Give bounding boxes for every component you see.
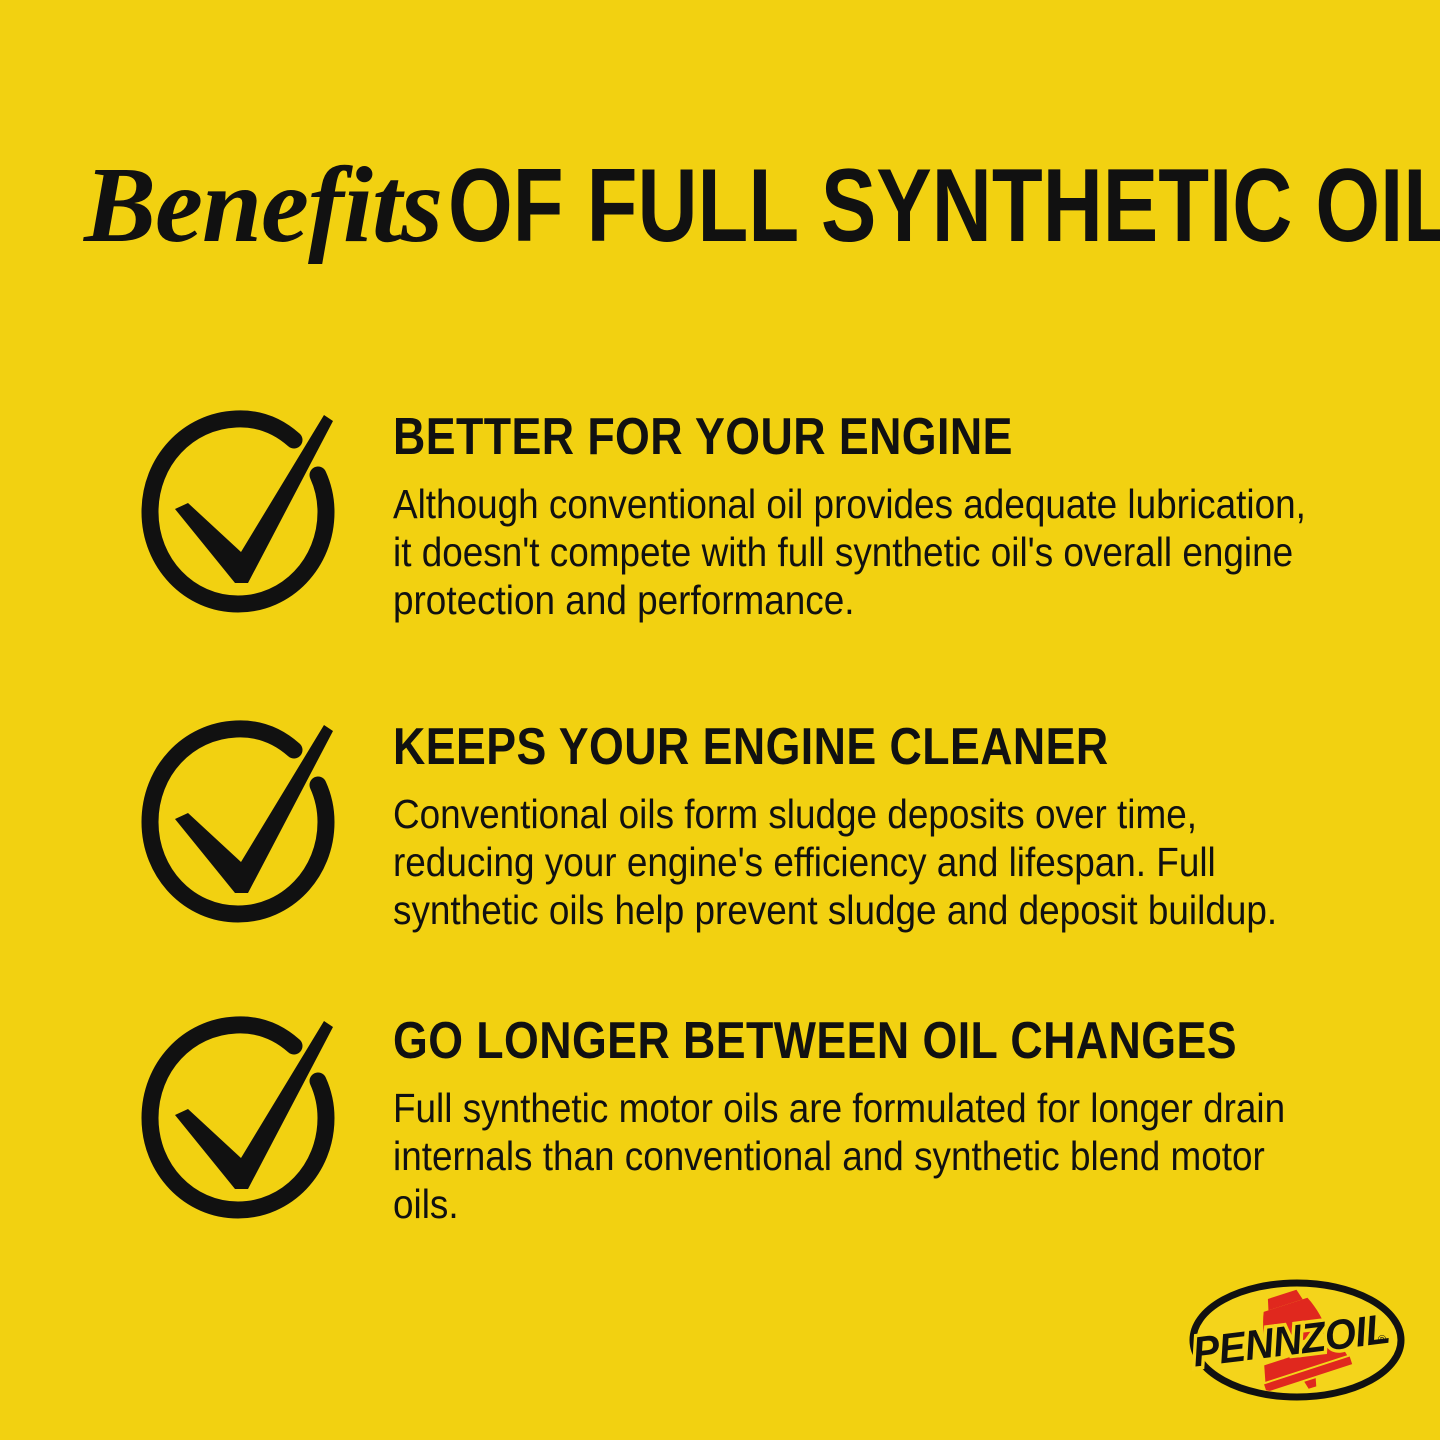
benefit-item: GO LONGER BETWEEN OIL CHANGES Full synth…: [0, 1004, 1440, 1244]
benefit-heading: KEEPS YOUR ENGINE CLEANER: [393, 720, 1193, 774]
title-bold-phrase: OF FULL SYNTHETIC OIL: [448, 154, 1440, 258]
benefit-item: KEEPS YOUR ENGINE CLEANER Conventional o…: [0, 706, 1440, 1004]
benefits-list: BETTER FOR YOUR ENGINE Although conventi…: [0, 396, 1440, 1244]
check-circle-icon: [128, 712, 348, 932]
page-title: BenefitsOF FULL SYNTHETIC OIL: [84, 152, 1374, 272]
benefit-text: GO LONGER BETWEEN OIL CHANGES Full synth…: [393, 1014, 1323, 1228]
logo-trademark: ®: [1378, 1334, 1386, 1346]
check-circle-icon: [128, 1008, 348, 1228]
benefit-body: Conventional oils form sludge deposits o…: [393, 790, 1322, 934]
benefit-heading: GO LONGER BETWEEN OIL CHANGES: [393, 1014, 1193, 1068]
pennzoil-logo: PENNZOIL ®: [1186, 1276, 1408, 1404]
title-script-word: Benefits: [84, 152, 442, 260]
benefit-text: BETTER FOR YOUR ENGINE Although conventi…: [393, 410, 1323, 624]
benefit-item: BETTER FOR YOUR ENGINE Although conventi…: [0, 396, 1440, 706]
benefit-text: KEEPS YOUR ENGINE CLEANER Conventional o…: [393, 720, 1323, 934]
infographic-poster: BenefitsOF FULL SYNTHETIC OIL BETTER FOR…: [0, 0, 1440, 1440]
benefit-body: Although conventional oil provides adequ…: [393, 480, 1322, 624]
benefit-body: Full synthetic motor oils are formulated…: [393, 1084, 1322, 1228]
check-circle-icon: [128, 402, 348, 622]
benefit-heading: BETTER FOR YOUR ENGINE: [393, 410, 1193, 464]
